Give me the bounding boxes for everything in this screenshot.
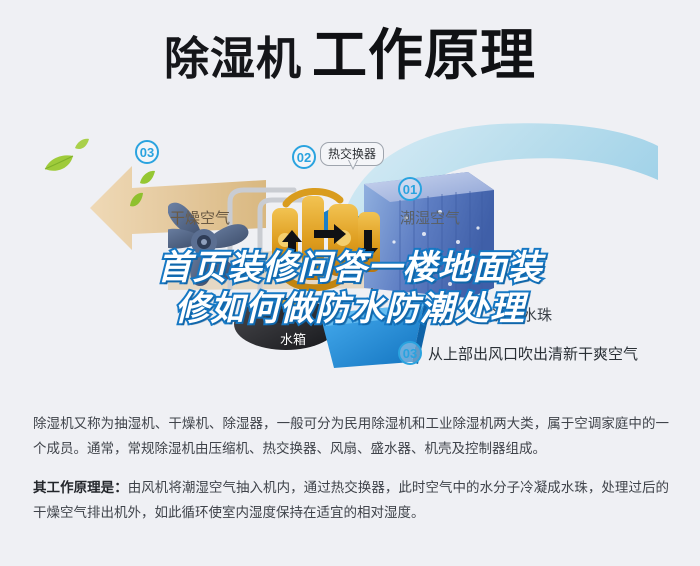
- step-badge-03-outlet: 03: [398, 341, 422, 365]
- paragraph-principle-lead: 其工作原理是：: [33, 480, 128, 495]
- callout-tail-icon: [348, 160, 358, 170]
- page-root: 除湿机 工作原理: [0, 0, 700, 566]
- page-title: 除湿机 工作原理: [0, 28, 700, 104]
- leaf-icon: [74, 138, 90, 151]
- page-title-small: 除湿机: [164, 36, 302, 81]
- overlay-headline-line-2: 修如何做防水防潮处理: [0, 289, 700, 330]
- overlay-headline: 首页装修问答一楼地面装 修如何做防水防潮处理: [0, 248, 700, 331]
- leaf-icon: [44, 154, 74, 174]
- label-water-tank: 水箱: [280, 329, 306, 348]
- overlay-headline-line-1: 首页装修问答一楼地面装: [0, 248, 700, 289]
- paragraph-principle: 其工作原理是：由风机将潮湿空气抽入机内，通过热交换器，此时空气中的水分子冷凝成水…: [33, 476, 669, 526]
- article-body: 除湿机又称为抽湿机、干燥机、除湿器，一般可分为民用除湿机和工业除湿机两大类，属于…: [33, 412, 669, 526]
- leaf-icon: [138, 170, 156, 186]
- label-dry-air: 干燥空气: [170, 207, 230, 228]
- step-badge-01-humid-air: 01: [398, 177, 422, 201]
- step-badge-02-heat-exchanger: 02: [292, 145, 316, 169]
- page-title-large: 工作原理: [312, 28, 536, 83]
- step-badge-03-dry-air: 03: [135, 140, 159, 164]
- label-humid-air: 潮湿空气: [400, 207, 460, 228]
- leaf-icon: [128, 192, 144, 208]
- paragraph-principle-rest: 由风机将潮湿空气抽入机内，通过热交换器，此时空气中的水分子冷凝成水珠，处理过后的…: [33, 480, 669, 520]
- label-outlet-text: 从上部出风口吹出清新干爽空气: [428, 343, 638, 364]
- paragraph-intro: 除湿机又称为抽湿机、干燥机、除湿器，一般可分为民用除湿机和工业除湿机两大类，属于…: [33, 412, 669, 462]
